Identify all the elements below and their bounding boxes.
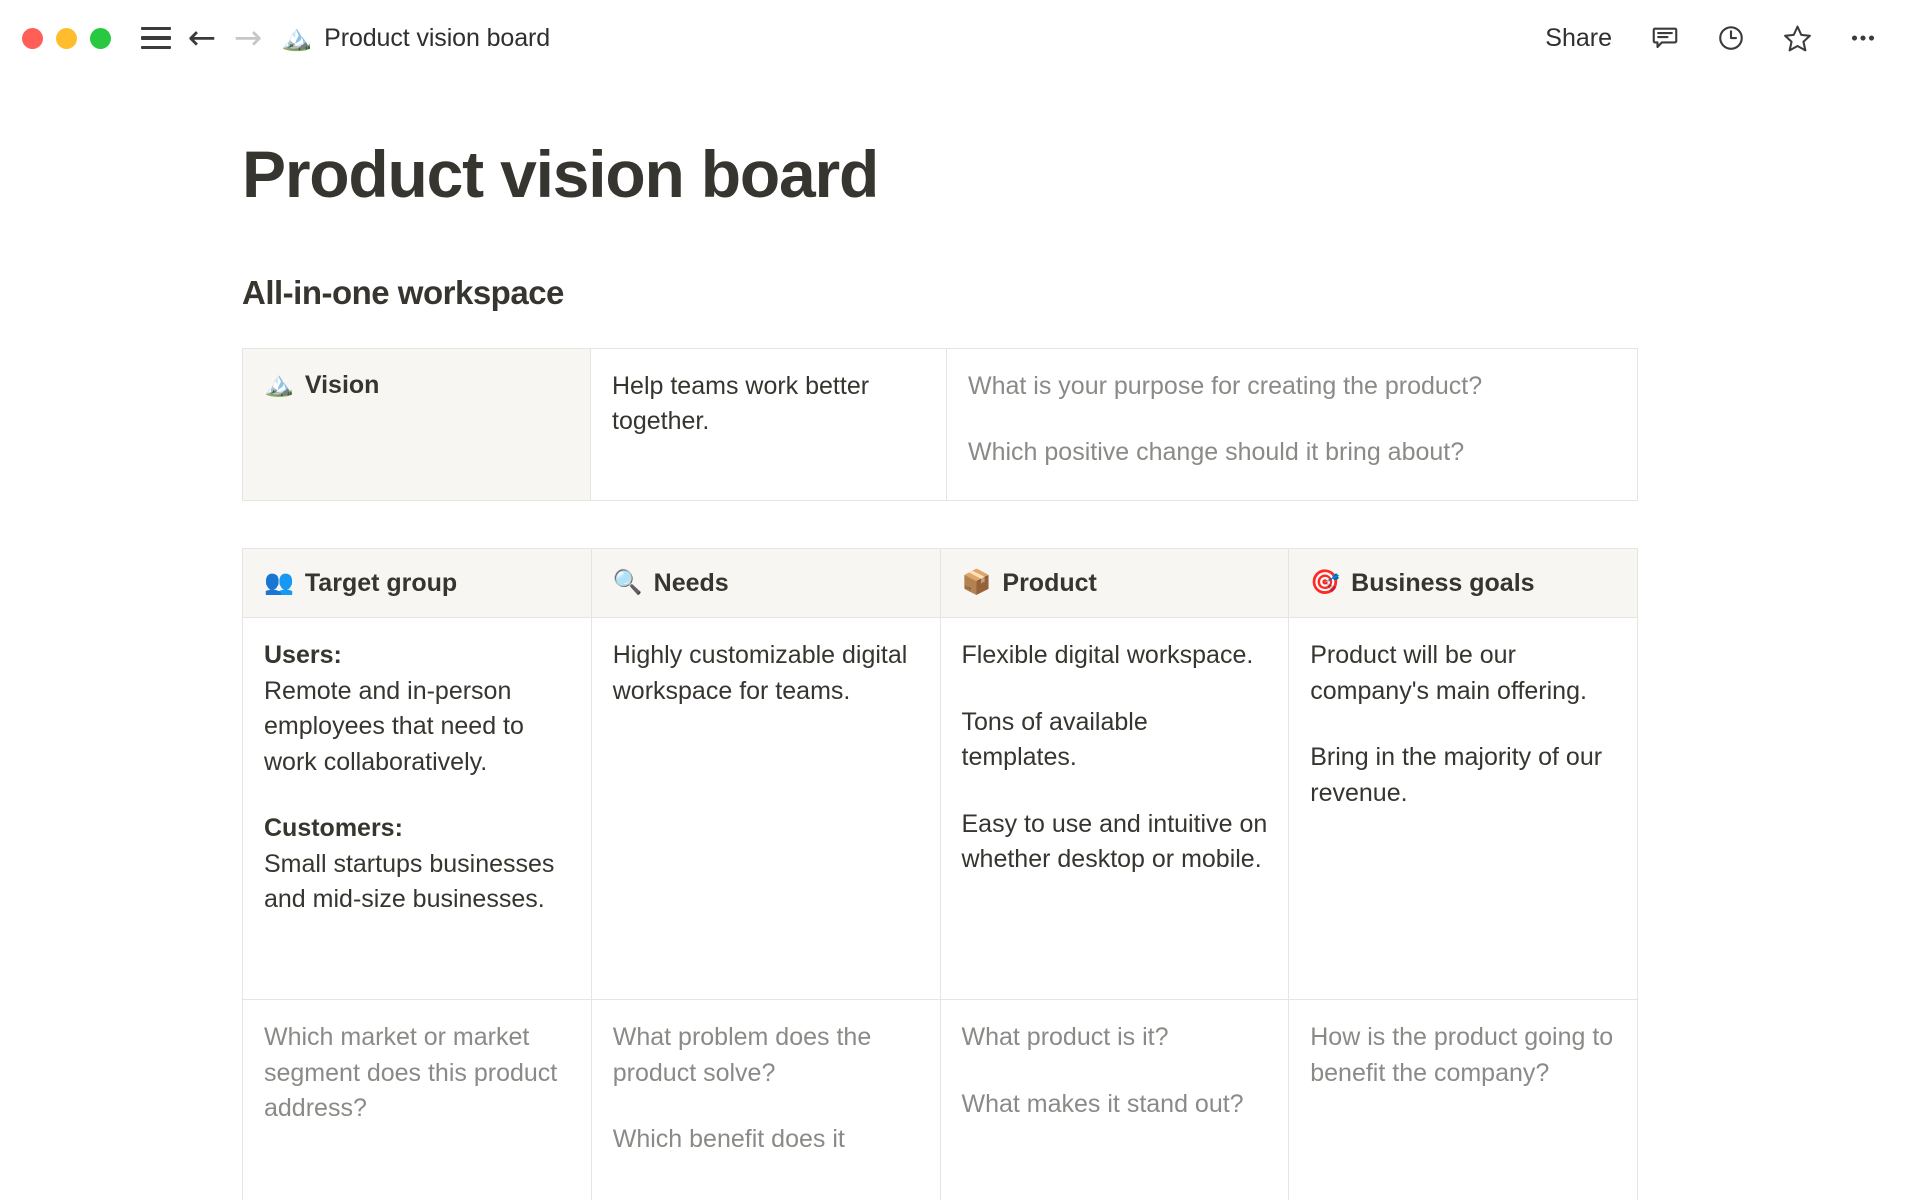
- breadcrumb-document-title[interactable]: Product vision board: [324, 24, 550, 53]
- cell-prompt: Which benefit does it: [613, 1122, 920, 1158]
- cell-paragraph: Bring in the majority of our revenue.: [1310, 740, 1617, 811]
- cell-paragraph: Flexible digital workspace.: [962, 638, 1269, 674]
- cell-target-group-prompts[interactable]: Which market or market segment does this…: [243, 1000, 592, 1200]
- vision-board-grid-table: 👥 Target group 🔍 Needs 📦 Produc: [242, 548, 1638, 1200]
- vision-prompts-cell[interactable]: What is your purpose for creating the pr…: [947, 348, 1638, 500]
- column-header-product[interactable]: 📦 Product: [940, 548, 1289, 618]
- window-traffic-lights: [22, 28, 111, 49]
- history-clock-icon: [1716, 23, 1746, 53]
- table-row: Users:Remote and in-person employees tha…: [243, 618, 1638, 1000]
- table-row: Which market or market segment does this…: [243, 1000, 1638, 1200]
- arrow-right-icon: →: [234, 21, 263, 55]
- favorite-button[interactable]: [1774, 15, 1820, 61]
- page-subtitle[interactable]: All-in-one workspace: [242, 274, 1642, 312]
- column-header-label: Business goals: [1351, 567, 1534, 600]
- vision-value-cell[interactable]: Help teams work better together.: [591, 348, 947, 500]
- navigate-forward-button[interactable]: →: [225, 15, 271, 61]
- vision-header-label: Vision: [305, 369, 380, 402]
- arrow-left-icon: ←: [188, 21, 217, 55]
- window-titlebar: ← → 🏔️ Product vision board Share: [0, 0, 1920, 76]
- star-icon: [1782, 23, 1813, 54]
- cell-paragraph: Users:Remote and in-person employees tha…: [264, 638, 571, 780]
- cell-paragraph-label: Customers:: [264, 814, 403, 842]
- cell-paragraph: Customers:Small startups businesses and …: [264, 811, 571, 918]
- page-title[interactable]: Product vision board: [242, 138, 1642, 212]
- cell-prompt: How is the product going to benefit the …: [1310, 1020, 1617, 1091]
- cell-product-content[interactable]: Flexible digital workspace.Tons of avail…: [940, 618, 1289, 1000]
- cell-paragraph-label: Users:: [264, 641, 342, 669]
- column-header-target-group[interactable]: 👥 Target group: [243, 548, 592, 618]
- cell-needs-content[interactable]: Highly customizable digital workspace fo…: [591, 618, 940, 1000]
- cell-business-goals-content[interactable]: Product will be our company's main offer…: [1289, 618, 1638, 1000]
- vision-value-text: Help teams work better together.: [612, 369, 926, 440]
- cell-target-group-content[interactable]: Users:Remote and in-person employees tha…: [243, 618, 592, 1000]
- maximize-window-button[interactable]: [90, 28, 111, 49]
- comments-button[interactable]: [1642, 15, 1688, 61]
- cell-paragraph: Easy to use and intuitive on whether des…: [962, 807, 1269, 878]
- cell-prompt: What product is it?: [962, 1020, 1269, 1056]
- table-row: 🏔️ Vision Help teams work better togethe…: [243, 348, 1638, 500]
- vision-table: 🏔️ Vision Help teams work better togethe…: [242, 348, 1638, 501]
- cell-paragraph: Product will be our company's main offer…: [1310, 638, 1617, 709]
- package-icon: 📦: [962, 571, 992, 595]
- table-header-row: 👥 Target group 🔍 Needs 📦 Produc: [243, 548, 1638, 618]
- column-header-needs[interactable]: 🔍 Needs: [591, 548, 940, 618]
- mountain-icon: 🏔️: [264, 373, 294, 397]
- cell-business-goals-prompts[interactable]: How is the product going to benefit the …: [1289, 1000, 1638, 1200]
- cell-paragraph: Tons of available templates.: [962, 705, 1269, 776]
- titlebar-actions: Share: [1535, 15, 1886, 61]
- magnifier-icon: 🔍: [613, 571, 643, 595]
- people-icon: 👥: [264, 571, 294, 595]
- comment-icon: [1650, 23, 1680, 53]
- column-header-label: Needs: [654, 567, 729, 600]
- vision-header-cell[interactable]: 🏔️ Vision: [243, 348, 591, 500]
- page-history-button[interactable]: [1708, 15, 1754, 61]
- sidebar-toggle-button[interactable]: [133, 15, 179, 61]
- target-dart-icon: 🎯: [1310, 571, 1340, 595]
- cell-paragraph: Highly customizable digital workspace fo…: [613, 638, 920, 709]
- cell-needs-prompts[interactable]: What problem does the product solve?Whic…: [591, 1000, 940, 1200]
- document-page: Product vision board All-in-one workspac…: [0, 138, 1920, 1200]
- cell-prompt: Which market or market segment does this…: [264, 1020, 571, 1127]
- document-mountain-icon: 🏔️: [281, 26, 312, 51]
- share-button[interactable]: Share: [1535, 18, 1622, 59]
- cell-prompt: What problem does the product solve?: [613, 1020, 920, 1091]
- vision-prompt-2: Which positive change should it bring ab…: [968, 435, 1617, 471]
- column-header-label: Product: [1002, 567, 1096, 600]
- hamburger-menu-icon: [141, 27, 171, 49]
- cell-prompt: What makes it stand out?: [962, 1087, 1269, 1123]
- more-options-icon: [1848, 23, 1878, 53]
- cell-product-prompts[interactable]: What product is it?What makes it stand o…: [940, 1000, 1289, 1200]
- navigate-back-button[interactable]: ←: [179, 15, 225, 61]
- close-window-button[interactable]: [22, 28, 43, 49]
- column-header-label: Target group: [305, 567, 457, 600]
- vision-prompt-1: What is your purpose for creating the pr…: [968, 369, 1617, 405]
- column-header-business-goals[interactable]: 🎯 Business goals: [1289, 548, 1638, 618]
- more-options-button[interactable]: [1840, 15, 1886, 61]
- minimize-window-button[interactable]: [56, 28, 77, 49]
